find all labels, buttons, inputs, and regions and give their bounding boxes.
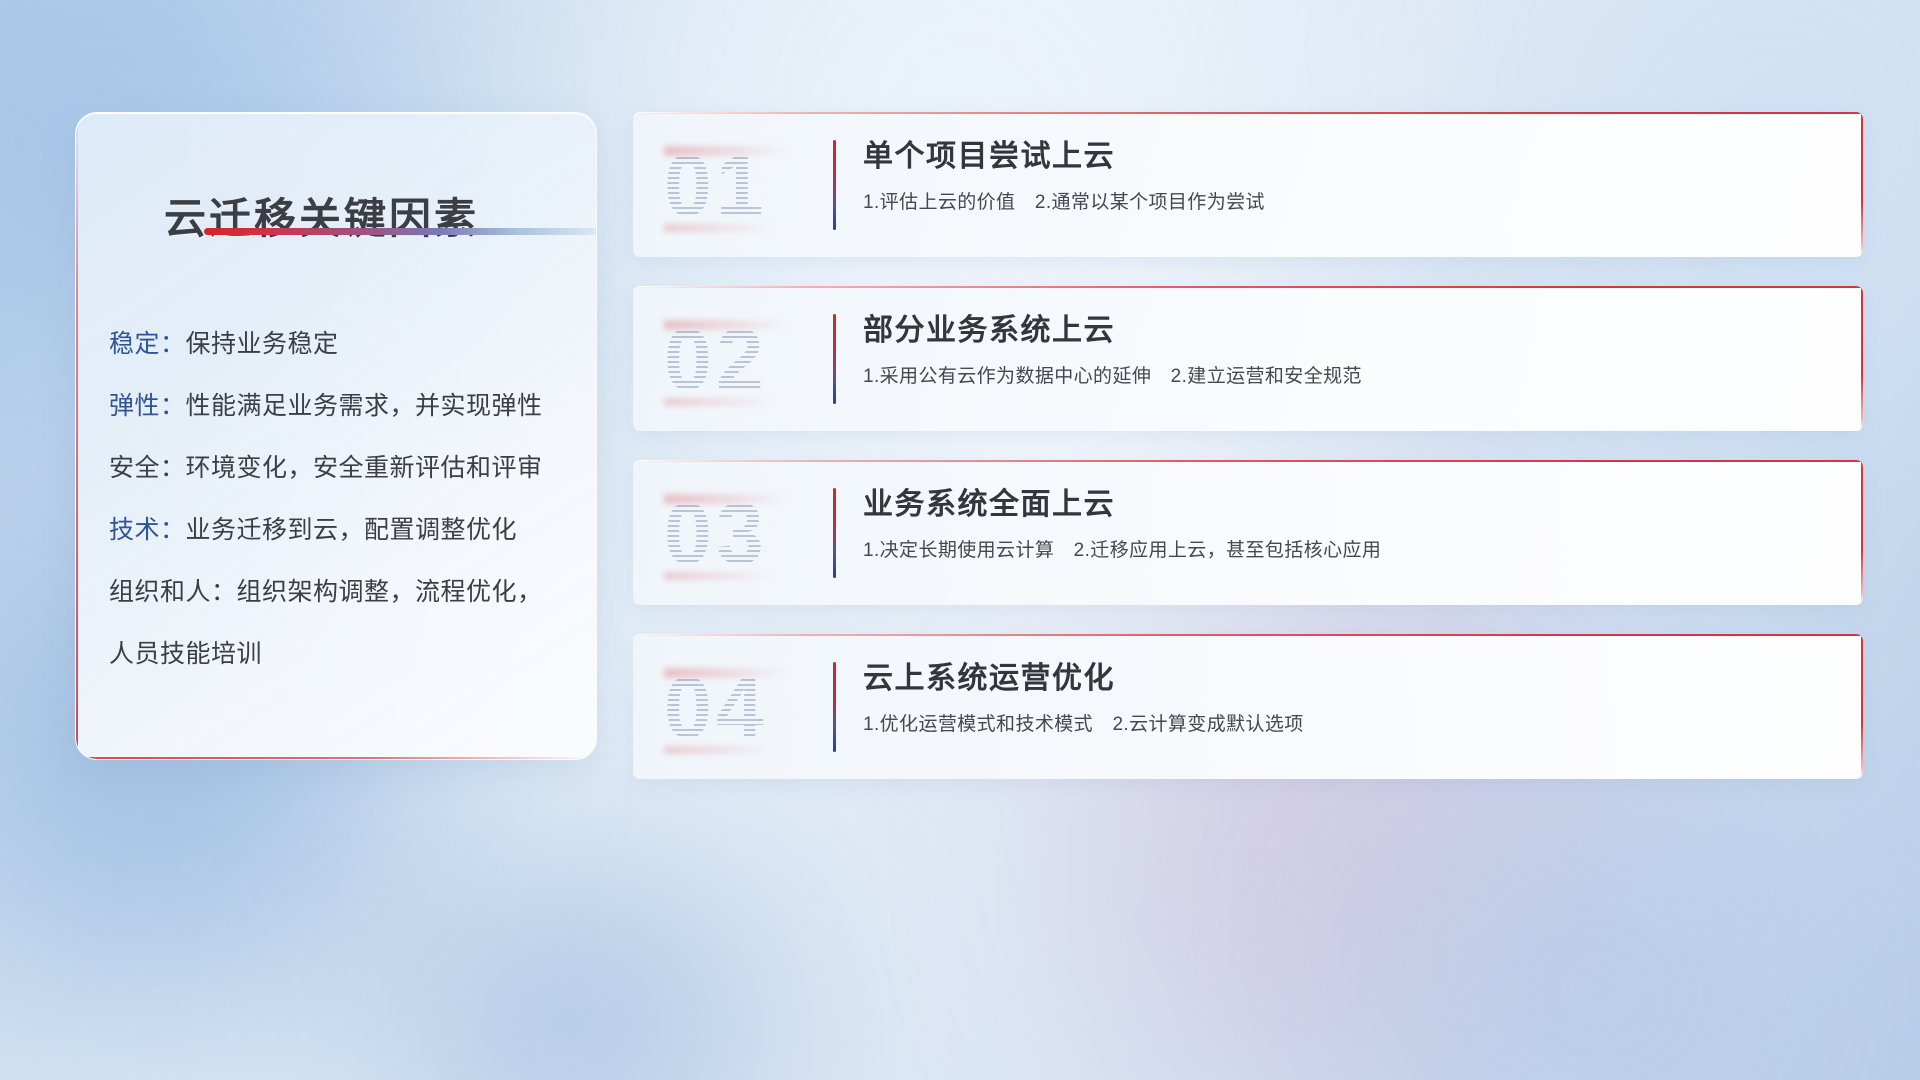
factor-row: 人员技能培训: [109, 623, 576, 685]
factor-row: 安全：环境变化，安全重新评估和评审: [109, 437, 576, 499]
factor-value: 环境变化，安全重新评估和评审: [186, 454, 543, 482]
factor-value: 保持业务稳定: [186, 330, 339, 358]
factor-key: 弹性：: [109, 392, 186, 420]
stage-body: 部分业务系统上云1.采用公有云作为数据中心的延伸 2.建立运营和安全规范: [863, 308, 1823, 391]
stage-body: 云上系统运营优化1.优化运营模式和技术模式 2.云计算变成默认选项: [863, 656, 1823, 739]
factor-key: 安全：: [109, 454, 186, 482]
factor-value: 性能满足业务需求，并实现弹性: [186, 392, 543, 420]
factor-list: 稳定：保持业务稳定弹性：性能满足业务需求，并实现弹性安全：环境变化，安全重新评估…: [109, 313, 576, 685]
stage-divider-bar: [833, 488, 836, 578]
factor-row: 稳定：保持业务稳定: [109, 313, 576, 375]
stage-title: 业务系统全面上云: [863, 482, 1823, 528]
stage-title: 部分业务系统上云: [863, 308, 1823, 354]
factor-key: 技术：: [109, 516, 186, 544]
factor-key: 组织和人：: [109, 578, 237, 606]
factor-key: 稳定：: [109, 330, 186, 358]
stage-divider-bar: [833, 314, 836, 404]
key-factors-panel: 云迁移关键因素 稳定：保持业务稳定弹性：性能满足业务需求，并实现弹性安全：环境变…: [75, 112, 597, 760]
stage-card-list: 01单个项目尝试上云1.评估上云的价值 2.通常以某个项目作为尝试02部分业务系…: [633, 112, 1863, 808]
stage-card[interactable]: 02部分业务系统上云1.采用公有云作为数据中心的延伸 2.建立运营和安全规范: [633, 286, 1863, 431]
stage-points: 1.决定长期使用云计算 2.迁移应用上云，甚至包括核心应用: [863, 537, 1823, 565]
stage-divider-bar: [833, 140, 836, 230]
stage-title: 云上系统运营优化: [863, 656, 1823, 702]
stage-points: 1.采用公有云作为数据中心的延伸 2.建立运营和安全规范: [863, 363, 1823, 391]
factor-value: 业务迁移到云，配置调整优化: [186, 516, 518, 544]
stage-number: 04: [664, 654, 844, 762]
stage-body: 单个项目尝试上云1.评估上云的价值 2.通常以某个项目作为尝试: [863, 134, 1823, 217]
stage-card[interactable]: 01单个项目尝试上云1.评估上云的价值 2.通常以某个项目作为尝试: [633, 112, 1863, 257]
factor-value: 组织架构调整，流程优化，: [237, 578, 543, 606]
stage-body: 业务系统全面上云1.决定长期使用云计算 2.迁移应用上云，甚至包括核心应用: [863, 482, 1823, 565]
stage-card[interactable]: 04云上系统运营优化1.优化运营模式和技术模式 2.云计算变成默认选项: [633, 634, 1863, 779]
factor-row: 弹性：性能满足业务需求，并实现弹性: [109, 375, 576, 437]
factor-row: 技术：业务迁移到云，配置调整优化: [109, 499, 576, 561]
stage-points: 1.评估上云的价值 2.通常以某个项目作为尝试: [863, 189, 1823, 217]
stage-card[interactable]: 03业务系统全面上云1.决定长期使用云计算 2.迁移应用上云，甚至包括核心应用: [633, 460, 1863, 605]
factor-row: 组织和人：组织架构调整，流程优化，: [109, 561, 576, 623]
stage-number: 01: [664, 132, 844, 240]
stage-points: 1.优化运营模式和技术模式 2.云计算变成默认选项: [863, 711, 1823, 739]
panel-title: 云迁移关键因素: [164, 185, 479, 246]
stage-number: 02: [664, 306, 844, 414]
title-underline-gradient: [204, 228, 597, 235]
factor-value: 人员技能培训: [109, 640, 262, 668]
stage-number: 03: [664, 480, 844, 588]
stage-divider-bar: [833, 662, 836, 752]
stage-title: 单个项目尝试上云: [863, 134, 1823, 180]
